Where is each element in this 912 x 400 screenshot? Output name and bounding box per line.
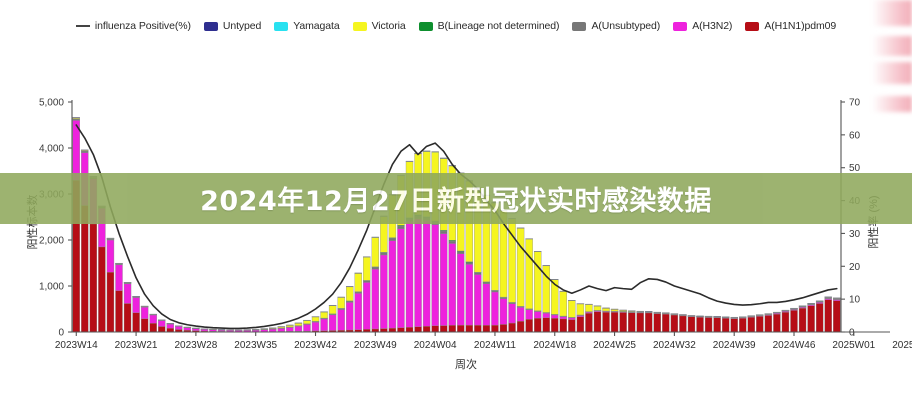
bar-segment (346, 287, 353, 301)
bar-segment (679, 316, 686, 332)
bar-segment (585, 304, 592, 311)
bar-segment (363, 282, 370, 329)
bar-segment (671, 315, 678, 332)
y-tick-label-left: 5,000 (39, 98, 64, 109)
bar-segment (483, 282, 490, 283)
bar-segment (782, 312, 789, 332)
bar-series-a-h3n2- (73, 120, 840, 331)
bar-segment (568, 320, 575, 332)
bar-segment (688, 317, 695, 332)
y-tick-label-right: 30 (849, 229, 861, 240)
legend-item-1[interactable]: Untyped (204, 20, 261, 32)
bar-segment (321, 312, 328, 318)
bar-segment (509, 304, 516, 323)
bar-segment (526, 319, 533, 332)
x-tick-label: 2024W39 (713, 340, 756, 351)
legend-item-5[interactable]: A(Unsubtyped) (572, 20, 660, 32)
bar-segment (115, 291, 122, 332)
bar-segment (440, 234, 447, 326)
x-tick-label: 2024W11 (474, 340, 517, 351)
bar-segment (517, 307, 524, 321)
bar-segment (457, 254, 464, 325)
positive-rate-line (76, 125, 836, 328)
bar-segment (363, 281, 370, 283)
bar-segment (731, 319, 738, 332)
legend-item-2[interactable]: Yamagata (274, 20, 339, 32)
bar-segment (363, 257, 370, 280)
bar-segment (389, 241, 396, 328)
bar-segment (543, 318, 550, 332)
screenshot-root: 01,0002,0003,0004,0005,00001020304050607… (0, 0, 912, 400)
bar-segment (406, 327, 413, 332)
bar-segment (278, 328, 285, 331)
bar-segment (662, 314, 669, 332)
bar-segment (133, 313, 140, 332)
bar-segment (423, 220, 430, 326)
x-tick-label: 2023W21 (115, 340, 158, 351)
bar-segment (397, 229, 404, 328)
bar-segment (295, 326, 302, 331)
bar-segment (98, 247, 105, 332)
bar-segment (491, 291, 498, 292)
bar-segment (184, 328, 191, 331)
bar-segment (81, 206, 88, 333)
bar-segment (714, 318, 721, 332)
bar-segment (355, 292, 362, 293)
bar-segment (432, 326, 439, 332)
legend-label: Untyped (223, 20, 261, 32)
x-tick-label: 2025W01 (832, 340, 875, 351)
legend-item-0[interactable]: influenza Positive(%) (76, 20, 191, 32)
bar-segment (269, 329, 276, 331)
bar-series-group (73, 117, 840, 332)
legend-swatch-icon (419, 22, 433, 31)
bar-segment (483, 284, 490, 325)
x-tick-label: 2023W28 (174, 340, 217, 351)
bar-segment (825, 300, 832, 332)
bar-segment (620, 312, 627, 332)
legend-swatch-icon (204, 22, 218, 31)
bar-segment (457, 252, 464, 254)
legend-swatch-icon (274, 22, 288, 31)
bar-segment (90, 224, 97, 332)
bar-segment (808, 306, 815, 332)
bar-segment (397, 226, 404, 229)
bar-segment (346, 302, 353, 330)
legend-label: Victoria (372, 20, 406, 32)
bar-segment (355, 293, 362, 329)
bar-segment (560, 317, 567, 319)
bar-segment (440, 326, 447, 332)
bar-segment (697, 317, 704, 332)
legend-label: B(Lineage not determined) (438, 20, 560, 32)
bar-segment (765, 315, 772, 332)
bar-segment (158, 321, 165, 327)
legend-label: A(Unsubtyped) (591, 20, 660, 32)
bar-segment (124, 284, 131, 304)
x-tick-label: 2023W35 (234, 340, 277, 351)
bar-segment (124, 303, 131, 332)
bar-segment (372, 267, 379, 269)
bar-segment (534, 312, 541, 319)
bar-segment (722, 318, 729, 332)
bar-segment (449, 241, 456, 243)
bar-segment (526, 310, 533, 320)
bar-segment (338, 297, 345, 308)
x-tick-label: 2023W14 (55, 340, 98, 351)
bar-segment (141, 307, 148, 319)
bar-segment (577, 317, 584, 332)
legend-swatch-icon (745, 22, 759, 31)
bar-segment (107, 272, 114, 332)
bar-segment (483, 325, 490, 332)
bar-segment (406, 221, 413, 327)
bar-segment (329, 315, 336, 331)
y-tick-label-left: 4,000 (39, 144, 64, 155)
bar-segment (167, 324, 174, 328)
bar-segment (594, 306, 601, 311)
bar-segment (825, 299, 832, 300)
bar-segment (585, 313, 592, 332)
bar-segment (560, 291, 567, 316)
bar-segment (791, 310, 798, 332)
bar-segment (603, 312, 610, 332)
x-tick-label: 2024W25 (593, 340, 636, 351)
bar-segment (423, 326, 430, 332)
bar-segment (748, 317, 755, 332)
bar-segment (551, 318, 558, 332)
bar-segment (449, 243, 456, 325)
bar-segment (773, 314, 780, 332)
bar-segment (372, 269, 379, 329)
bar-segment (517, 228, 524, 306)
bar-segment (389, 238, 396, 240)
bar-segment (491, 325, 498, 332)
bar-segment (150, 323, 157, 332)
bar-segment (509, 323, 516, 332)
bar-segment (115, 265, 122, 291)
bar-segment (397, 328, 404, 332)
bar-segment (432, 225, 439, 326)
bar-segment (568, 300, 575, 317)
bar-segment (466, 262, 473, 264)
overlay-banner: 2024年12月27日新型冠状实时感染数据 (0, 173, 912, 224)
legend-swatch-icon (572, 22, 586, 31)
overlay-banner-title: 2024年12月27日新型冠状实时感染数据 (200, 179, 712, 218)
y-tick-label-left: 0 (58, 328, 64, 339)
bar-segment (577, 304, 584, 315)
bar-segment (286, 327, 293, 331)
x-tick-label: 2024W18 (533, 340, 576, 351)
bar-segment (150, 315, 157, 323)
legend-item-7[interactable]: A(H1N1)pdm09 (745, 20, 836, 32)
legend-label: Yamagata (293, 20, 339, 32)
y-tick-label-left: 2,000 (39, 236, 64, 247)
bar-segment (415, 219, 422, 327)
y-tick-label-right: 10 (849, 295, 861, 306)
y-tick-label-right: 20 (849, 262, 861, 273)
chart-legend: influenza Positive(%)UntypedYamagataVict… (0, 20, 912, 32)
bar-segment (500, 324, 507, 332)
bar-segment (645, 313, 652, 332)
x-tick-label: 2023W42 (294, 340, 337, 351)
bar-segment (175, 326, 182, 329)
bar-series-b-lineage-not-determined- (73, 119, 840, 331)
bar-segment (526, 239, 533, 309)
bar-segment (637, 313, 644, 332)
bar-segment (474, 325, 481, 332)
x-axis-title: 周次 (455, 357, 477, 371)
bar-segment (133, 298, 140, 313)
bar-segment (799, 308, 806, 332)
bar-segment (739, 318, 746, 332)
bar-segment (474, 275, 481, 326)
legend-label: A(H3N2) (692, 20, 732, 32)
legend-swatch-icon (353, 22, 367, 31)
bar-segment (457, 325, 464, 332)
bar-segment (534, 251, 541, 310)
bar-segment (312, 322, 319, 331)
bar-segment (654, 314, 661, 332)
bar-segment (816, 303, 823, 332)
bar-segment (756, 316, 763, 332)
bar-segment (466, 264, 473, 325)
bar-segment (611, 312, 618, 332)
y-tick-label-right: 60 (849, 130, 861, 141)
bar-segment (449, 325, 456, 332)
legend-item-6[interactable]: A(H3N2) (673, 20, 732, 32)
y-tick-label-right: 70 (849, 98, 861, 109)
bar-segment (167, 328, 174, 332)
x-tick-label: 2025W08 (892, 340, 912, 351)
bar-segment (329, 305, 336, 313)
y-tick-label-left: 1,000 (39, 282, 64, 293)
bar-segment (321, 319, 328, 331)
x-tick-label: 2024W32 (653, 340, 696, 351)
bar-segment (517, 321, 524, 332)
bar-segment (440, 231, 447, 234)
bar-segment (551, 315, 558, 318)
legend-line-icon (76, 25, 90, 27)
bar-segment (415, 327, 422, 332)
bar-segment (73, 119, 80, 120)
bar-segment (474, 273, 481, 275)
bar-segment (833, 301, 840, 332)
bar-segment (312, 317, 319, 322)
bar-segment (380, 255, 387, 329)
x-tick-label: 2024W46 (773, 340, 816, 351)
legend-label: influenza Positive(%) (95, 20, 191, 32)
bar-segment (355, 273, 362, 291)
bar-segment (372, 237, 379, 266)
bar-segment (543, 313, 550, 318)
legend-item-3[interactable]: Victoria (353, 20, 406, 32)
bar-segment (466, 325, 473, 332)
bar-segment (141, 319, 148, 332)
x-tick-label: 2024W04 (414, 340, 457, 351)
bar-segment (380, 253, 387, 255)
bar-segment (303, 324, 310, 331)
bar-segment (534, 318, 541, 332)
bar-series-a-unsubtyped- (73, 119, 840, 330)
legend-swatch-icon (673, 22, 687, 31)
bar-segment (158, 326, 165, 332)
legend-item-4[interactable]: B(Lineage not determined) (419, 20, 560, 32)
x-tick-label: 2023W49 (354, 340, 397, 351)
bar-segment (594, 312, 601, 332)
bar-segment (491, 292, 498, 325)
bar-segment (338, 310, 345, 331)
bar-segment (560, 319, 567, 332)
bar-segment (705, 318, 712, 332)
legend-label: A(H1N1)pdm09 (764, 20, 836, 32)
bar-segment (107, 240, 114, 272)
bar-segment (389, 328, 396, 332)
bar-segment (628, 313, 635, 332)
bar-segment (500, 299, 507, 325)
